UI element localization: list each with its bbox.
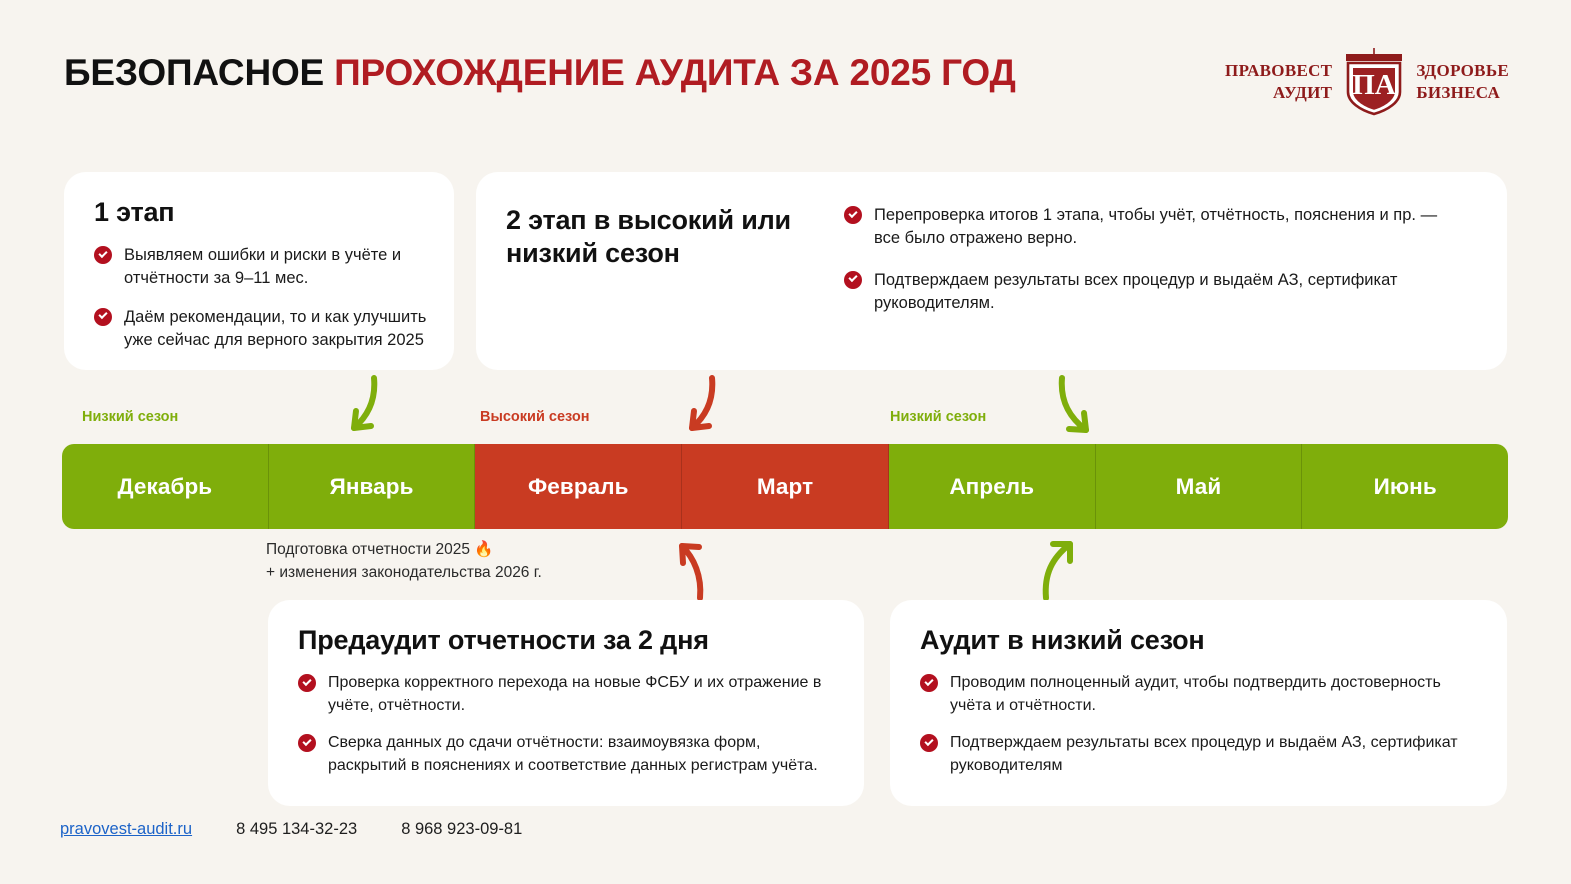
list-item-text: Проводим полноценный аудит, чтобы подтве… — [950, 674, 1441, 714]
list-item: Перепроверка итогов 1 этапа, чтобы учёт,… — [844, 204, 1464, 251]
card-lowseason: Аудит в низкий сезон Проводим полноценны… — [890, 600, 1507, 806]
timeline-month-iyun[interactable]: Июнь — [1302, 444, 1508, 529]
list-item: Даём рекомендации, то и как улучшить уже… — [94, 306, 434, 353]
list-item: Проводим полноценный аудит, чтобы подтве… — [920, 672, 1460, 717]
season-label-high: Высокий сезон — [480, 409, 589, 425]
list-item-text: Даём рекомендации, то и как улучшить уже… — [124, 308, 426, 349]
prep-note: Подготовка отчетности 2025 🔥 + изменения… — [266, 538, 696, 585]
card-lowseason-bullets: Проводим полноценный аудит, чтобы подтве… — [920, 672, 1460, 778]
card-lowseason-heading: Аудит в низкий сезон — [920, 624, 1205, 657]
logo-left-text: ПРАВОВЕСТ АУДИТ — [1225, 60, 1332, 105]
arrow-down-green-1 — [330, 372, 410, 448]
shield-icon: ПА — [1344, 48, 1404, 116]
check-circle-icon — [920, 734, 938, 752]
list-item: Выявляем ошибки и риски в учёте и отчётн… — [94, 244, 434, 291]
card-stage1-bullets: Выявляем ошибки и риски в учёте и отчётн… — [94, 244, 434, 353]
list-item-text: Подтверждаем результаты всех процедур и … — [950, 734, 1458, 774]
card-preaudit-bullets: Проверка корректного перехода на новые Ф… — [298, 672, 838, 778]
check-circle-icon — [94, 246, 112, 264]
check-circle-icon — [94, 308, 112, 326]
page-title-black: БЕЗОПАСНОЕ — [64, 52, 324, 93]
list-item-text: Выявляем ошибки и риски в учёте и отчётн… — [124, 246, 401, 287]
check-circle-icon — [844, 271, 862, 289]
card-preaudit: Предаудит отчетности за 2 дня Проверка к… — [268, 600, 864, 806]
logo-right-line1: ЗДОРОВЬЕ — [1416, 60, 1509, 82]
timeline-months: Декабрь Январь Февраль Март Апрель Май И… — [62, 444, 1508, 529]
prep-note-line1: Подготовка отчетности 2025 — [266, 541, 470, 558]
list-item-text: Подтверждаем результаты всех процедур и … — [874, 271, 1397, 312]
check-circle-icon — [298, 734, 316, 752]
prep-note-line2: + изменения законодательства 2026 г. — [266, 564, 542, 581]
fire-icon: 🔥 — [474, 541, 493, 558]
list-item: Сверка данных до сдачи отчётности: взаим… — [298, 732, 838, 777]
list-item-text: Перепроверка итогов 1 этапа, чтобы учёт,… — [874, 206, 1437, 247]
brand-logo: ПРАВОВЕСТ АУДИТ ПА ЗДОРОВЬЕ БИЗНЕСА — [1225, 48, 1509, 116]
arrow-up-green — [1028, 530, 1104, 604]
check-circle-icon — [298, 674, 316, 692]
check-circle-icon — [844, 206, 862, 224]
logo-right-line2: БИЗНЕСА — [1416, 82, 1509, 104]
page-title-red: ПРОХОЖДЕНИЕ АУДИТА ЗА 2025 ГОД — [334, 52, 1016, 93]
card-stage1: 1 этап Выявляем ошибки и риски в учёте и… — [64, 172, 454, 370]
page-title: БЕЗОПАСНОЕ ПРОХОЖДЕНИЕ АУДИТА ЗА 2025 ГО… — [64, 52, 1016, 94]
arrow-down-red — [668, 372, 748, 448]
check-circle-icon — [920, 674, 938, 692]
list-item: Проверка корректного перехода на новые Ф… — [298, 672, 838, 717]
timeline-month-dekabr[interactable]: Декабрь — [62, 444, 269, 529]
phone-number-2[interactable]: 8 968 923-09-81 — [401, 820, 522, 839]
card-stage1-heading: 1 этап — [94, 196, 174, 229]
season-label-low-1: Низкий сезон — [82, 409, 178, 425]
phone-number-1[interactable]: 8 495 134-32-23 — [236, 820, 357, 839]
logo-mark-text: ПА — [1353, 69, 1397, 101]
logo-right-text: ЗДОРОВЬЕ БИЗНЕСА — [1416, 60, 1509, 105]
list-item-text: Проверка корректного перехода на новые Ф… — [328, 674, 821, 714]
arrow-up-red — [660, 530, 730, 604]
list-item-text: Сверка данных до сдачи отчётности: взаим… — [328, 734, 818, 774]
timeline-month-aprel[interactable]: Апрель — [889, 444, 1096, 529]
website-link[interactable]: pravovest-audit.ru — [60, 820, 192, 839]
footer: pravovest-audit.ru 8 495 134-32-23 8 968… — [60, 820, 522, 839]
timeline-month-yanvar[interactable]: Январь — [269, 444, 476, 529]
timeline-month-fevral[interactable]: Февраль — [475, 444, 682, 529]
header: БЕЗОПАСНОЕ ПРОХОЖДЕНИЕ АУДИТА ЗА 2025 ГО… — [0, 0, 1571, 140]
card-stage2-bullets: Перепроверка итогов 1 этапа, чтобы учёт,… — [844, 204, 1464, 334]
card-preaudit-heading: Предаудит отчетности за 2 дня — [298, 624, 709, 657]
timeline-month-may[interactable]: Май — [1096, 444, 1303, 529]
infographic-root: БЕЗОПАСНОЕ ПРОХОЖДЕНИЕ АУДИТА ЗА 2025 ГО… — [0, 0, 1571, 884]
card-stage2-heading: 2 этап в высокий или низкий сезон — [506, 204, 806, 270]
card-stage2: 2 этап в высокий или низкий сезон Перепр… — [476, 172, 1507, 370]
logo-left-line1: ПРАВОВЕСТ — [1225, 60, 1332, 82]
arrow-down-green-2 — [1044, 372, 1130, 448]
timeline-month-mart[interactable]: Март — [682, 444, 889, 529]
logo-left-line2: АУДИТ — [1225, 82, 1332, 104]
list-item: Подтверждаем результаты всех процедур и … — [844, 269, 1464, 316]
list-item: Подтверждаем результаты всех процедур и … — [920, 732, 1460, 777]
season-label-low-2: Низкий сезон — [890, 409, 986, 425]
